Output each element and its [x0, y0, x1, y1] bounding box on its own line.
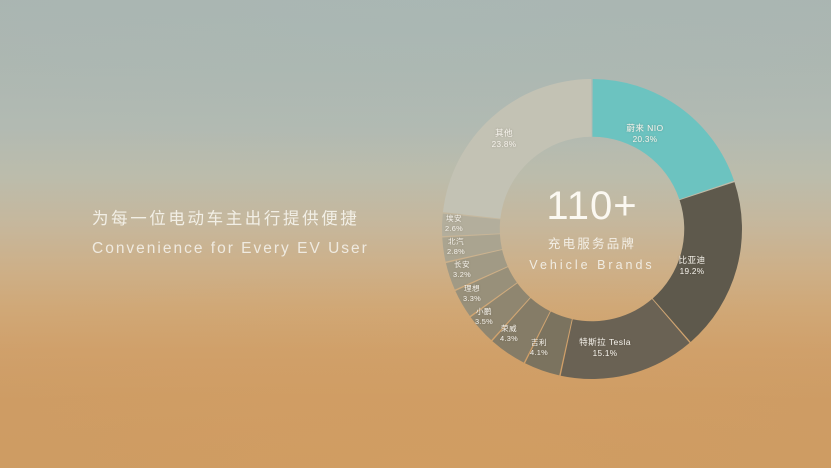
donut-slice-group: [442, 79, 742, 379]
slide-canvas: 为每一位电动车主出行提供便捷 Convenience for Every EV …: [0, 0, 831, 468]
donut-slice[interactable]: [592, 79, 734, 199]
headline-chinese: 为每一位电动车主出行提供便捷: [92, 206, 422, 232]
donut-chart-svg: [441, 78, 743, 380]
headline-english: Convenience for Every EV User: [92, 238, 422, 260]
donut-chart: [441, 78, 743, 380]
headline-block: 为每一位电动车主出行提供便捷 Convenience for Every EV …: [92, 206, 422, 260]
donut-slice[interactable]: [443, 79, 592, 219]
